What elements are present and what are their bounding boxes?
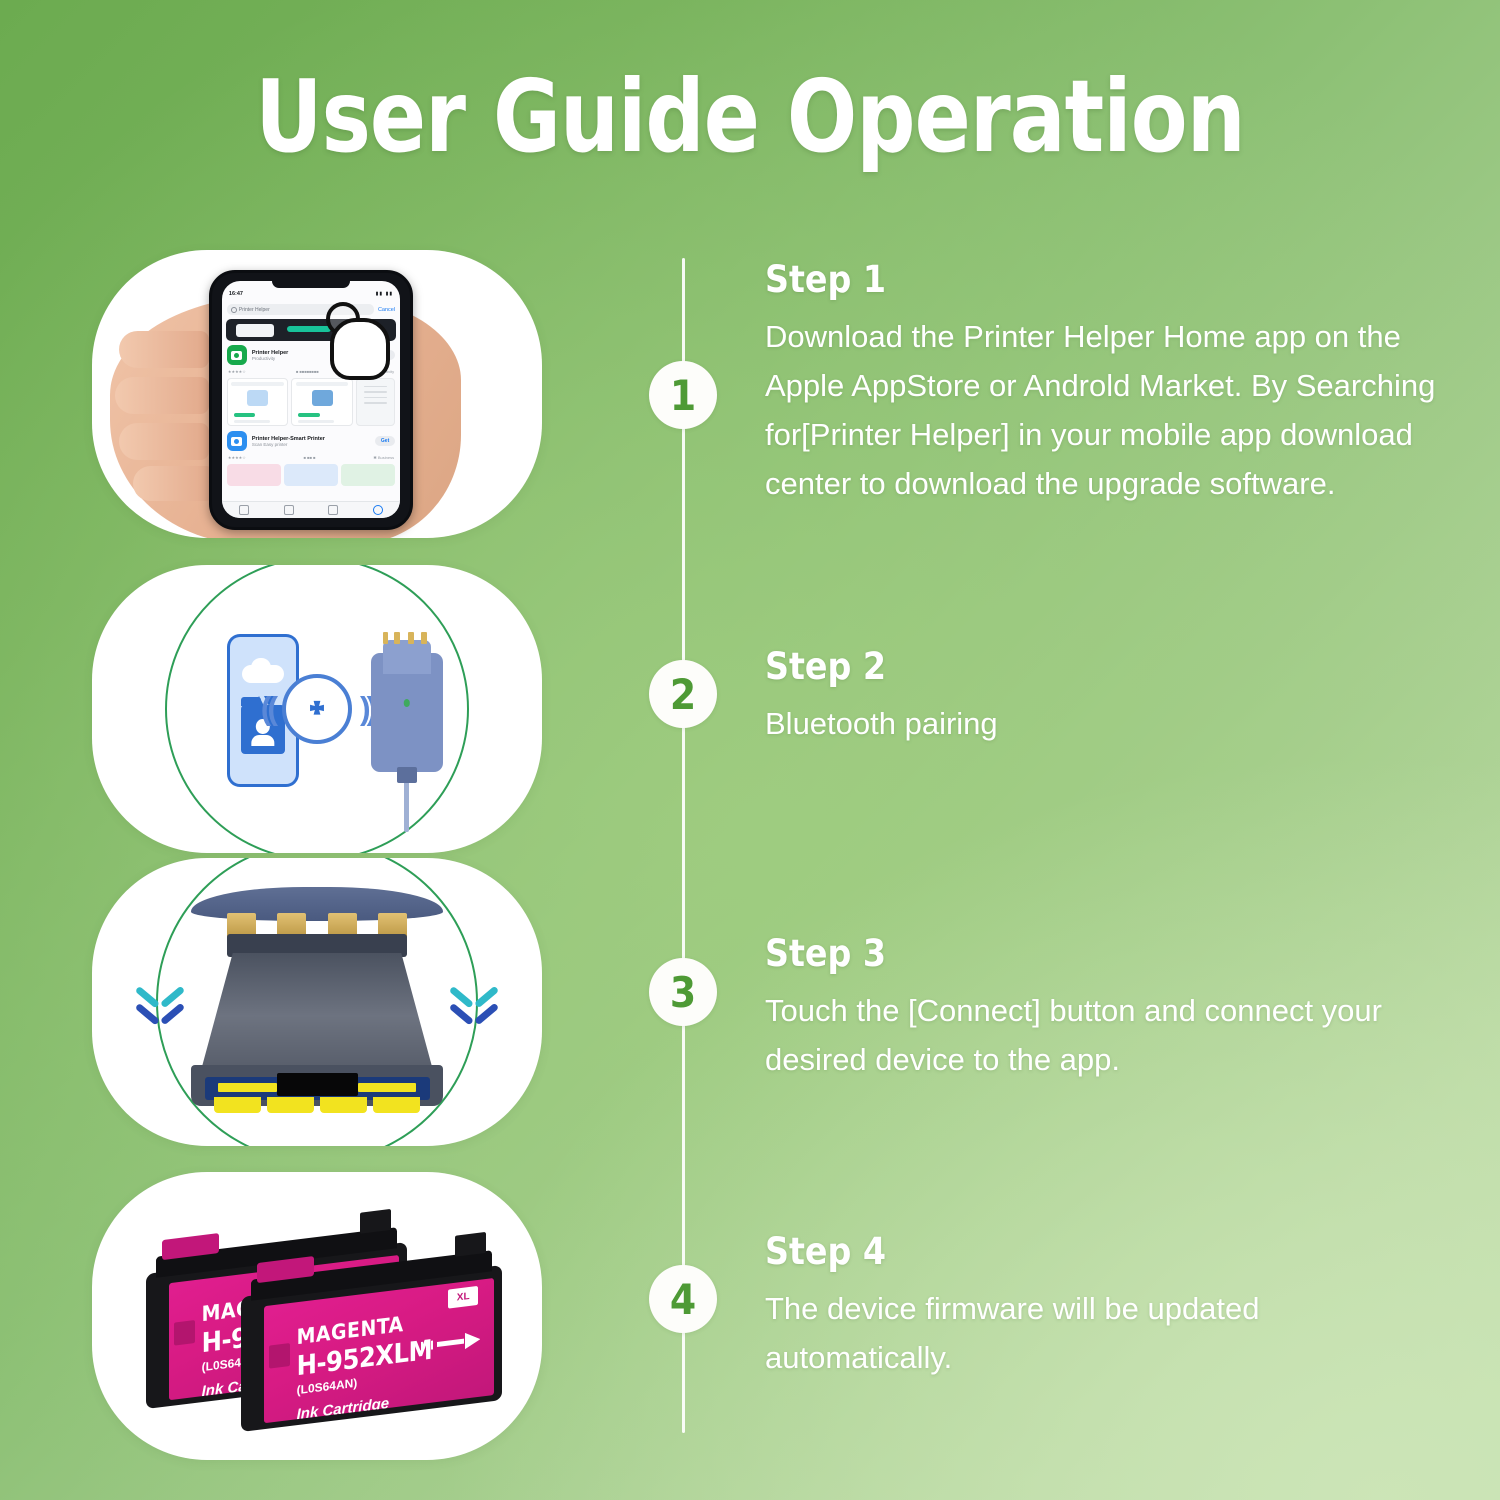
promo-center-card <box>287 326 331 332</box>
step-number: 2 <box>670 670 696 719</box>
rating-meta-mid: ■ ■■ ■ <box>304 455 316 460</box>
phone-notch <box>272 281 350 288</box>
step-image-card-4: MAGENTA H-952XLM (L0S64AN) Ink Cartridge… <box>92 1172 542 1460</box>
contact-pad <box>358 1083 417 1092</box>
chip-ic <box>277 1073 358 1096</box>
contact-pad <box>218 1083 277 1092</box>
finger-shape <box>133 466 214 501</box>
rating-stars: ★★★★☆ <box>228 455 246 460</box>
contact-pad-row <box>214 1097 421 1113</box>
search-query-text: Printer Helper <box>239 307 270 313</box>
step-heading: Step 1 <box>765 258 1455 301</box>
list-item[interactable]: Printer Helper-Smart Printer Scan Easy p… <box>227 431 395 451</box>
step-text-1: Step 1 Download the Printer Helper Home … <box>765 258 1455 509</box>
step-heading: Step 4 <box>765 1230 1455 1273</box>
step-heading: Step 2 <box>765 645 1455 688</box>
promo-left-card <box>236 324 273 337</box>
step-number: 4 <box>670 1275 696 1324</box>
status-bar: 16:47 ▮▮ ▮▮ <box>222 289 400 298</box>
signal-wave-left-icon: (( <box>261 691 274 728</box>
tab-search-icon[interactable] <box>373 505 383 515</box>
step-image-card-1: 16:47 ▮▮ ▮▮ Printer Helper Cancel <box>92 250 542 538</box>
xl-badge: XL <box>448 1286 478 1308</box>
app-meta: Printer Helper-Smart Printer Scan Easy p… <box>252 436 370 447</box>
tab-apps-icon[interactable] <box>328 505 338 515</box>
step-body: Download the Printer Helper Home app on … <box>765 313 1455 509</box>
step-badge-4: 4 <box>649 1265 717 1333</box>
step-badge-1: 1 <box>649 361 717 429</box>
page-title: User Guide Operation <box>60 58 1440 175</box>
screenshot-carousel[interactable] <box>227 378 395 426</box>
timeline-spine <box>682 258 685 1433</box>
step-image-card-2: (( ᛭ )) <box>92 565 542 853</box>
chevron-down-icon <box>137 985 183 1031</box>
bluetooth-icon: ᛭ <box>282 674 352 744</box>
finger-shape <box>119 423 209 460</box>
step-text-3: Step 3 Touch the [Connect] button and co… <box>765 932 1455 1085</box>
tab-games-icon[interactable] <box>284 505 294 515</box>
step-number: 3 <box>670 968 696 1017</box>
tab-bar[interactable] <box>222 501 400 518</box>
app-rating-row: ★★★★☆ ■ ■■ ■ ✱ Business <box>228 455 394 460</box>
rating-meta-mid: ■ ■■■■■■■■ <box>296 369 319 374</box>
hand-illustration: 16:47 ▮▮ ▮▮ Printer Helper Cancel <box>92 250 542 538</box>
step-number: 1 <box>670 371 696 420</box>
step-text-4: Step 4 The device firmware will be updat… <box>765 1230 1455 1383</box>
finger-shape <box>115 377 210 414</box>
search-icon <box>231 307 237 313</box>
app-icon <box>227 431 247 451</box>
step-image-card-3 <box>92 858 542 1146</box>
step-body: Touch the [Connect] button and connect y… <box>765 987 1455 1085</box>
app-screenshot <box>356 378 395 426</box>
cloud-icon <box>242 658 284 690</box>
ink-cartridge-front: XL MAGENTA H-952XLM (L0S64AN) Ink Cartri… <box>241 1265 502 1432</box>
step-text-2: Step 2 Bluetooth pairing <box>765 645 1455 749</box>
app-screenshot <box>227 464 281 486</box>
app-screenshot <box>291 378 353 426</box>
app-subtitle: Scan Easy printer <box>252 442 370 447</box>
status-time: 16:47 <box>229 291 243 297</box>
step-badge-2: 2 <box>649 660 717 728</box>
rating-stars: ★★★★☆ <box>228 369 246 374</box>
screenshot-carousel[interactable] <box>227 464 395 486</box>
tap-cursor-icon <box>326 302 390 376</box>
chip-body <box>200 953 434 1074</box>
step-body: Bluetooth pairing <box>765 700 1455 749</box>
app-screenshot <box>341 464 395 486</box>
status-icons: ▮▮ ▮▮ <box>376 291 393 297</box>
app-screenshot <box>284 464 338 486</box>
poster-root: User Guide Operation 16:47 ▮▮ ▮▮ <box>0 0 1500 1500</box>
chip-dongle-illustration <box>371 640 443 772</box>
step-body: The device firmware will be updated auto… <box>765 1285 1455 1383</box>
chevron-down-icon <box>451 985 497 1031</box>
app-icon <box>227 345 247 365</box>
app-screenshot <box>227 378 289 426</box>
rating-meta-right: ✱ Business <box>373 455 394 460</box>
tab-today-icon[interactable] <box>239 505 249 515</box>
step-badge-3: 3 <box>649 958 717 1026</box>
finger-shape <box>119 331 209 368</box>
step-heading: Step 3 <box>765 932 1455 975</box>
get-button[interactable]: Get <box>375 436 395 446</box>
